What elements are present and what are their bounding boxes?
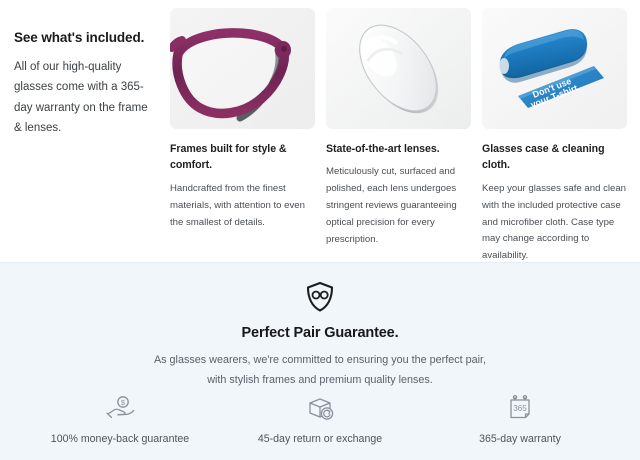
intro-block: See what's included. All of our high-qua… [14, 30, 154, 139]
hand-holding-coin-icon: $ [20, 393, 220, 423]
perfect-pair-guarantee-section: Perfect Pair Guarantee. As glasses weare… [0, 262, 640, 460]
card-case-text: Keep your glasses safe and clean with th… [482, 181, 627, 265]
calendar-badge-text: 365 [513, 404, 527, 413]
guarantee-feature-list: $ 100% money-back guarantee [20, 393, 620, 447]
shield-icon-wrapper [0, 281, 640, 318]
page-title: See what's included. [14, 30, 154, 47]
svg-text:$: $ [121, 400, 125, 407]
guarantee-title: Perfect Pair Guarantee. [0, 325, 640, 341]
card-frames: Frames built for style & comfort. Handcr… [170, 8, 315, 265]
hand-holding-coin-glyph: $ [105, 395, 135, 421]
frames-illustration [170, 8, 315, 129]
lens-illustration [326, 8, 471, 129]
shield-glasses-icon [305, 281, 335, 313]
feature-return-exchange: 45-day return or exchange [220, 393, 420, 447]
card-lenses-text: Meticulously cut, surfaced and polished,… [326, 164, 471, 248]
case-illustration: Don't use your T-shirt. [482, 8, 627, 129]
card-frames-title: Frames built for style & comfort. [170, 141, 315, 174]
box-return-arrow-icon [220, 393, 420, 423]
card-case-title: Glasses case & cleaning cloth. [482, 141, 627, 174]
intro-description: All of our high-quality glasses come wit… [14, 57, 154, 139]
feature-money-back: $ 100% money-back guarantee [20, 393, 220, 447]
guarantee-subtitle-line1: As glasses wearers, we're committed to e… [154, 354, 486, 366]
calendar-365-glyph: 365 [506, 395, 534, 421]
feature-card-list: Frames built for style & comfort. Handcr… [170, 8, 628, 265]
whats-included-section: See what's included. All of our high-qua… [0, 0, 640, 262]
feature-warranty-label: 365-day warranty [420, 432, 620, 447]
included-and-guarantee-page: See what's included. All of our high-qua… [0, 0, 640, 459]
guarantee-subtitle: As glasses wearers, we're committed to e… [80, 351, 560, 391]
feature-money-back-label: 100% money-back guarantee [20, 432, 220, 447]
card-lenses-title: State-of-the-art lenses. [326, 141, 471, 157]
feature-return-exchange-label: 45-day return or exchange [220, 432, 420, 447]
guarantee-subtitle-line2: with stylish frames and premium quality … [207, 374, 433, 386]
card-frames-text: Handcrafted from the finest materials, w… [170, 181, 315, 232]
glasses-case-and-cloth-photo: Don't use your T-shirt. [482, 8, 627, 129]
purple-eyeglass-frames-photo [170, 8, 315, 129]
eyeglass-lens-photo [326, 8, 471, 129]
feature-warranty: 365 365-day warranty [420, 393, 620, 447]
box-return-arrow-glyph [305, 395, 335, 421]
card-case: Don't use your T-shirt. Glasses case & c… [482, 8, 627, 265]
card-lenses: State-of-the-art lenses. Meticulously cu… [326, 8, 471, 265]
calendar-365-icon: 365 [420, 393, 620, 423]
